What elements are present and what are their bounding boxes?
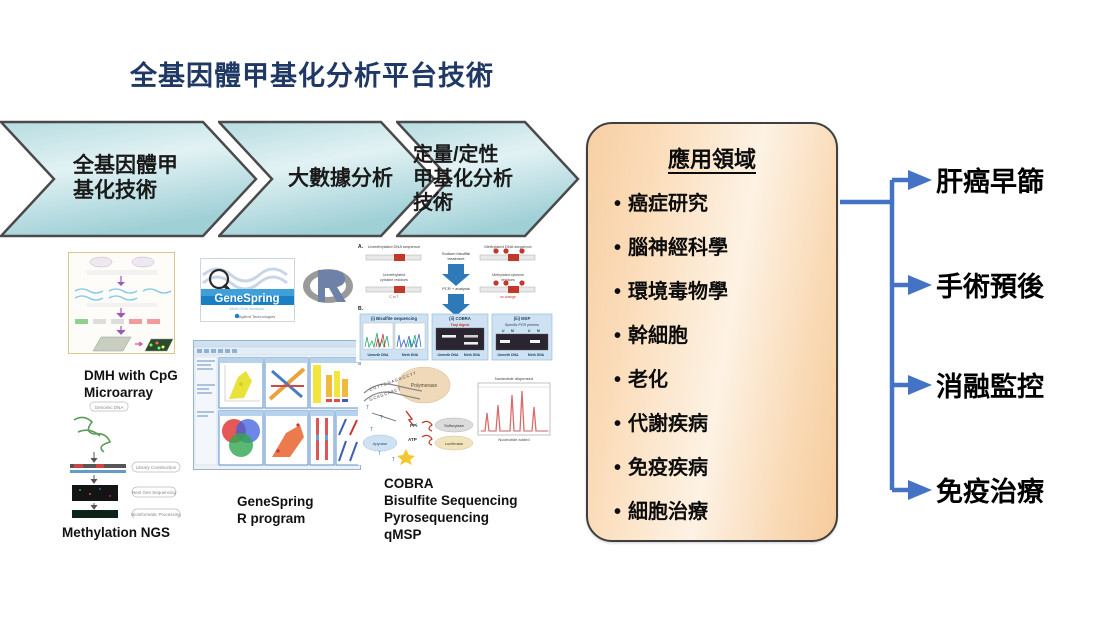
arrowheads bbox=[908, 170, 932, 500]
output-label-2: 手術預後 bbox=[936, 265, 1044, 304]
connector-lines bbox=[0, 0, 1106, 622]
output-label-1: 肝癌早篩 bbox=[936, 160, 1044, 199]
output-label-3: 消融監控 bbox=[936, 365, 1044, 404]
output-label-4: 免疫治療 bbox=[936, 470, 1044, 509]
slide-canvas: 全基因體甲基化分析平台技術 全基因體甲 基化技術 bbox=[0, 0, 1106, 622]
